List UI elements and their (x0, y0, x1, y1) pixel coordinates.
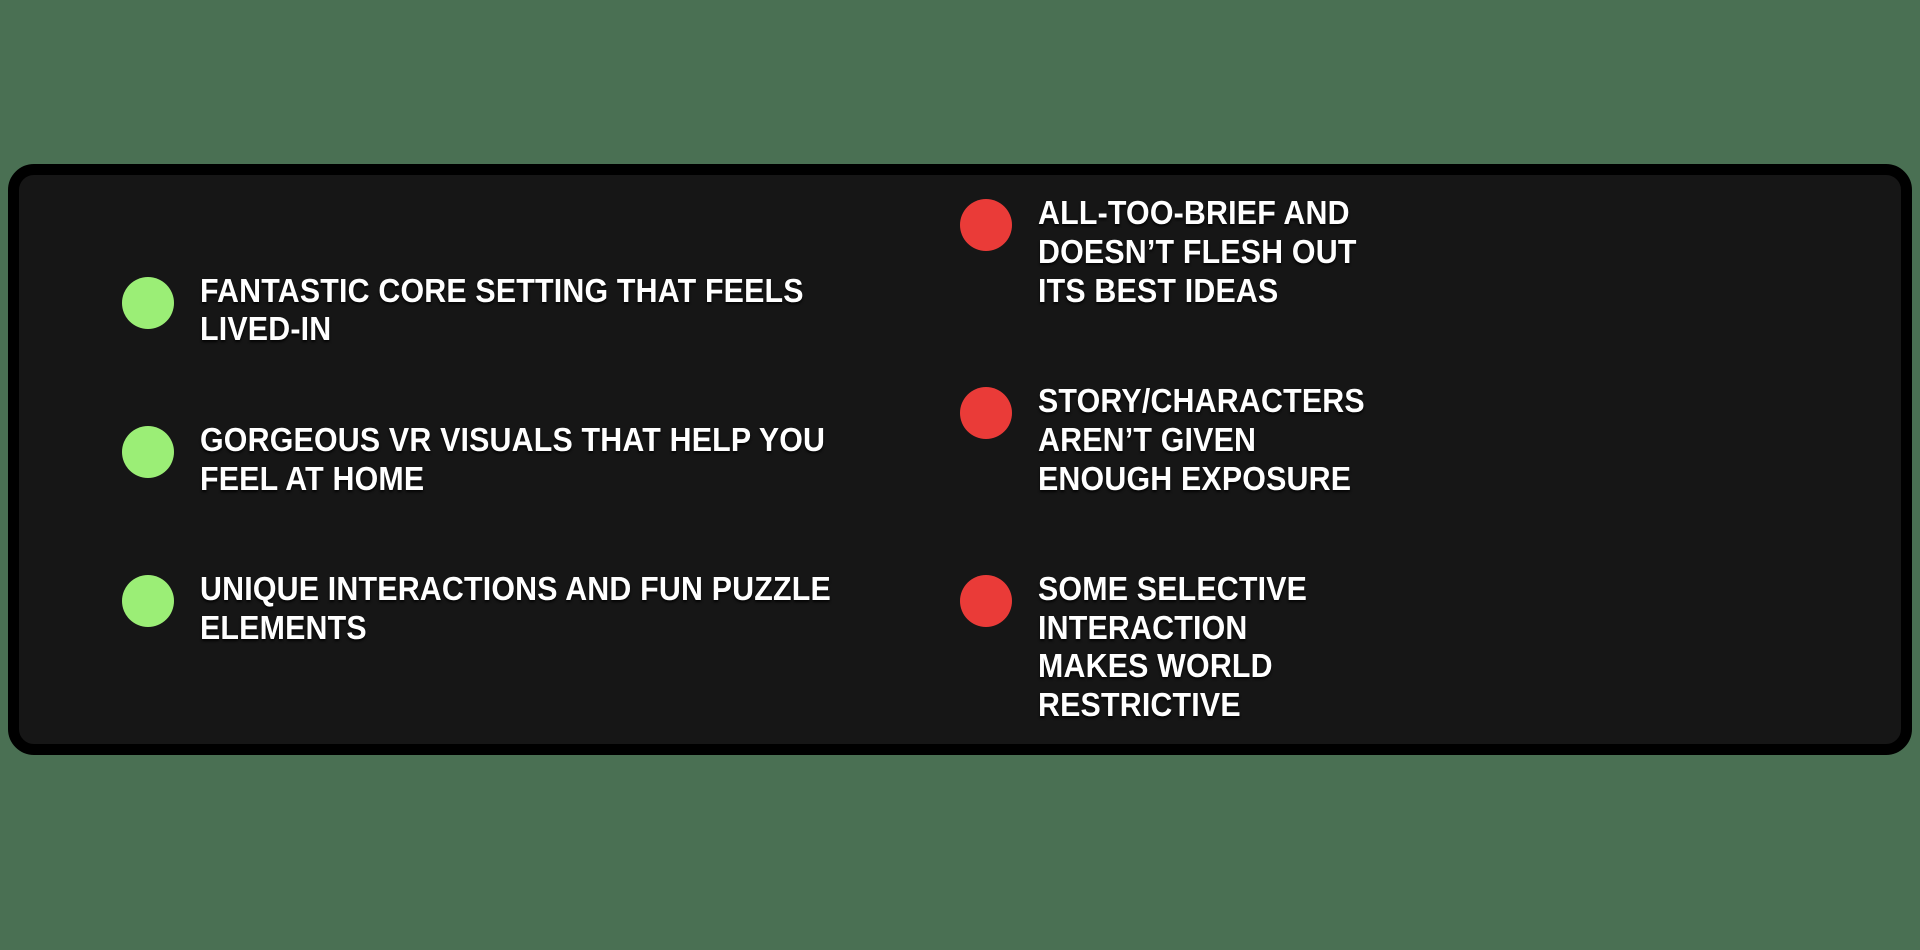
page-root: Fantastic core setting that feels lived-… (0, 0, 1920, 950)
cons-list-item: Some selective interaction makes world r… (960, 570, 1393, 724)
pros-list-item: Fantastic core setting that feels lived-… (122, 272, 930, 349)
pros-list-item: Gorgeous VR visuals that help you feel a… (122, 421, 930, 498)
cons-list-item: All-too-brief and doesn’t flesh out its … (960, 194, 1393, 310)
cons-item-label: Some selective interaction makes world r… (1038, 570, 1365, 724)
pros-item-label: Gorgeous VR visuals that help you feel a… (200, 421, 872, 498)
cons-item-label: Story/characters aren’t given enough exp… (1038, 382, 1365, 498)
cons-item-label: All-too-brief and doesn’t flesh out its … (1038, 194, 1365, 310)
pros-item-label: Fantastic core setting that feels lived-… (200, 272, 872, 349)
pros-list-item: Unique interactions and fun puzzle eleme… (122, 570, 930, 647)
con-dot-icon (960, 387, 1012, 439)
cons-list-item: Story/characters aren’t given enough exp… (960, 382, 1393, 498)
con-dot-icon (960, 575, 1012, 627)
con-dot-icon (960, 199, 1012, 251)
pros-item-label: Unique interactions and fun puzzle eleme… (200, 570, 872, 647)
pros-cons-card: Fantastic core setting that feels lived-… (8, 164, 1912, 755)
